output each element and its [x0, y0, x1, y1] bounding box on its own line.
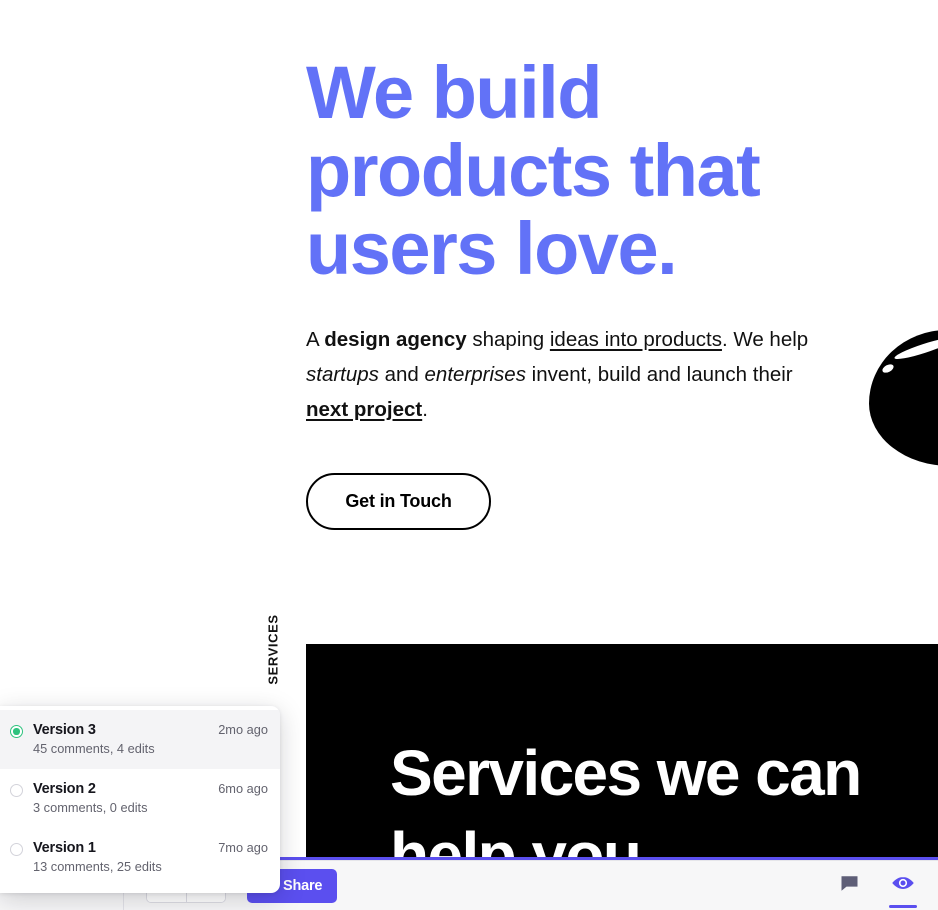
- version-list-item[interactable]: Version 1 13 comments, 25 edits 7mo ago: [0, 828, 280, 887]
- version-list-item[interactable]: Version 3 45 comments, 4 edits 2mo ago: [0, 710, 280, 769]
- blob-highlight-small: [881, 363, 895, 375]
- radio-unselected-icon[interactable]: [10, 843, 23, 856]
- hero-link-next-project[interactable]: next project: [306, 398, 422, 421]
- comments-toggle-button[interactable]: [834, 861, 864, 910]
- version-item-texts: Version 1 13 comments, 25 edits: [33, 839, 218, 876]
- radio-unselected-icon[interactable]: [10, 784, 23, 797]
- hero-text-plain-2: shaping: [467, 328, 550, 351]
- share-button-label: Share: [283, 878, 322, 894]
- hero-text-plain-6: .: [422, 398, 428, 421]
- services-side-label-text: SERVICES: [266, 614, 281, 684]
- hero-text-plain-1: A: [306, 328, 324, 351]
- page-title: We build products that users love.: [306, 54, 826, 288]
- hero-text-bold-design-agency: design agency: [324, 328, 466, 351]
- hero-text-plain-5: invent, build and launch their: [526, 363, 793, 386]
- version-item-texts: Version 2 3 comments, 0 edits: [33, 780, 218, 817]
- app-root: We build products that users love. A des…: [0, 0, 938, 910]
- get-in-touch-button[interactable]: Get in Touch: [306, 473, 491, 530]
- black-blob-shape-icon: [869, 330, 938, 466]
- hero-paragraph: A design agency shaping ideas into produ…: [306, 322, 812, 427]
- hero-text-plain-3: . We help: [722, 328, 808, 351]
- version-item-meta: 3 comments, 0 edits: [33, 799, 218, 817]
- hero-link-ideas-into-products[interactable]: ideas into products: [550, 328, 722, 351]
- eye-icon: [891, 875, 915, 896]
- toolbar-right-icons: [834, 861, 938, 910]
- radio-selected-icon[interactable]: [10, 725, 23, 738]
- services-section: Services we can help you: [306, 644, 938, 860]
- hero-text-italic-startups: startups: [306, 363, 379, 386]
- version-item-age: 6mo ago: [218, 781, 268, 796]
- version-item-meta: 45 comments, 4 edits: [33, 740, 218, 758]
- hero-text-plain-4: and: [379, 363, 425, 386]
- version-item-texts: Version 3 45 comments, 4 edits: [33, 721, 218, 758]
- version-item-name: Version 2: [33, 781, 96, 797]
- version-item-age: 2mo ago: [218, 722, 268, 737]
- version-item-name: Version 1: [33, 840, 96, 856]
- version-list-item[interactable]: Version 2 3 comments, 0 edits 6mo ago: [0, 769, 280, 828]
- blob-highlight-large: [893, 335, 938, 363]
- services-heading: Services we can help you: [390, 732, 910, 860]
- version-history-dropdown[interactable]: Version 3 45 comments, 4 edits 2mo ago V…: [0, 706, 280, 893]
- version-item-meta: 13 comments, 25 edits: [33, 858, 218, 876]
- version-item-age: 7mo ago: [218, 840, 268, 855]
- preview-toggle-button[interactable]: [888, 861, 918, 910]
- version-item-name: Version 3: [33, 722, 96, 738]
- hero-text-italic-enterprises: enterprises: [425, 363, 526, 386]
- comment-bubble-icon: [840, 874, 859, 898]
